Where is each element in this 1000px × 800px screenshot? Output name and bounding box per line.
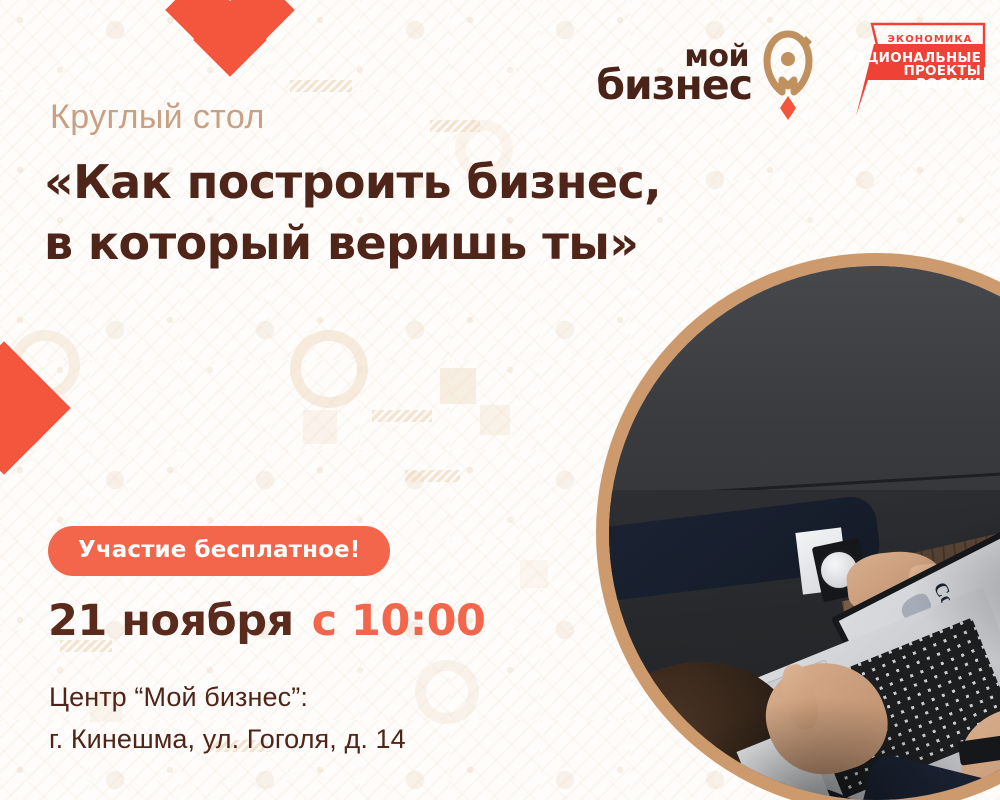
decor-zigzag [372, 410, 432, 422]
photo-image: Company's Growth [609, 266, 1000, 800]
logo-group: мой бизнес ЭКОНОМИКА НАЦИОНАЛЬНЫЕ ПРОЕКТ… [596, 18, 986, 122]
rocket-pin-icon [760, 28, 816, 120]
event-type-kicker: Круглый стол [50, 98, 265, 137]
event-datetime: 21 ноябряс 10:00 [48, 596, 485, 646]
event-time: с 10:00 [312, 596, 486, 646]
my-business-word-bottom: бизнес [596, 69, 752, 103]
photo-shadow [669, 696, 969, 800]
decor-zigzag [405, 470, 460, 482]
np-tag: ЭКОНОМИКА [887, 34, 972, 45]
venue-line-2: г. Кинешма, ул. Гоголя, д. 14 [49, 718, 406, 760]
decor-ring [290, 330, 368, 408]
headline-line-2: в который веришь ты» [44, 213, 664, 274]
photo-scene: Company's Growth [609, 266, 1000, 800]
decor-zigzag [430, 120, 480, 132]
photo-circle: Company's Growth [596, 253, 1000, 800]
photo-shadow [909, 506, 1000, 666]
page-title: «Как построить бизнес, в который веришь … [44, 152, 664, 273]
venue-line-1: Центр “Мой бизнес”: [49, 676, 406, 718]
decor-square [440, 368, 476, 404]
national-projects-logo: ЭКОНОМИКА НАЦИОНАЛЬНЫЕ ПРОЕКТЫ РОССИИ [838, 18, 986, 122]
decor-square [480, 405, 510, 435]
decor-zigzag [290, 80, 352, 92]
np-line3: РОССИИ [916, 76, 981, 92]
event-venue: Центр “Мой бизнес”: г. Кинешма, ул. Гого… [49, 676, 406, 760]
decor-square [303, 410, 337, 444]
free-participation-badge: Участие бесплатное! [48, 526, 390, 576]
poster-root: мой бизнес ЭКОНОМИКА НАЦИОНАЛЬНЫЕ ПРОЕКТ… [0, 0, 1000, 800]
headline-line-1: «Как построить бизнес, [44, 152, 664, 213]
my-business-logo: мой бизнес [596, 18, 816, 120]
event-date: 21 ноября [48, 596, 294, 646]
decor-ring [415, 660, 479, 724]
my-business-wordmark: мой бизнес [596, 45, 752, 103]
decor-square [520, 560, 548, 588]
